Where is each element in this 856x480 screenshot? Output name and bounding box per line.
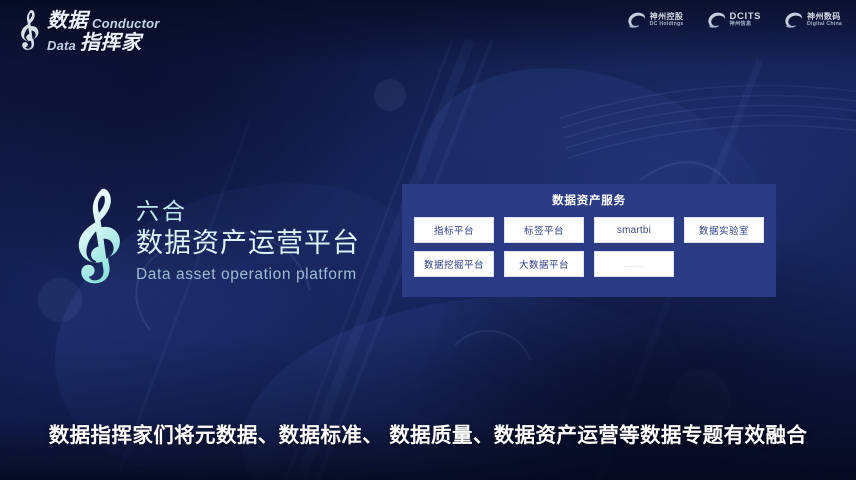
service-card-data-mining-platform[interactable]: 数据挖掘平台 xyxy=(414,251,494,277)
partner-logo-digital-china: 神州数码 Digital China xyxy=(783,10,842,30)
panel-title: 数据资产服务 xyxy=(414,192,764,208)
partner-names: DCITS 神州信息 xyxy=(730,12,762,28)
dc-swirl-icon xyxy=(783,10,803,30)
treble-clef-icon xyxy=(16,8,42,54)
service-card-indicator-platform[interactable]: 指标平台 xyxy=(414,217,494,243)
partner-name-en: 神州信息 xyxy=(730,22,762,28)
service-card-tag-platform[interactable]: 标签平台 xyxy=(504,217,584,243)
brand-row-1: 数据 Conductor xyxy=(47,11,160,31)
partner-names: 神州数码 Digital China xyxy=(807,13,842,28)
slide-caption: 数据指挥家们将元数据、数据标准、 数据质量、数据资产运营等数据专题有效融合 xyxy=(0,418,856,448)
data-asset-service-panel: 数据资产服务 指标平台 标签平台 smartbi 数据实验室 数据挖掘平台 大数… xyxy=(402,184,776,297)
brand-line2-cn: 指挥家 xyxy=(80,33,142,53)
partner-name-en: Digital China xyxy=(807,22,842,28)
partner-logo-dcits: DCITS 神州信息 xyxy=(706,10,762,30)
brand-row-2: Data 指挥家 xyxy=(47,33,160,53)
service-card-placeholder xyxy=(684,251,764,277)
service-card-smartbi[interactable]: smartbi xyxy=(594,217,674,243)
dc-swirl-icon xyxy=(626,10,646,30)
partner-name-en: DC Holdings xyxy=(650,22,684,28)
partner-names: 神州控股 DC Holdings xyxy=(650,13,684,28)
brand-line1-cn: 数据 xyxy=(47,11,88,31)
slide-root: 数据 Conductor Data 指挥家 神州控股 DC Holdings xyxy=(0,0,856,480)
partner-logo-dc-holdings: 神州控股 DC Holdings xyxy=(626,10,684,30)
brand-line1-en: Conductor xyxy=(92,17,160,31)
platform-title-block: 六合 数据资产运营平台 Data asset operation platfor… xyxy=(68,186,360,294)
treble-clef-icon xyxy=(68,186,124,294)
platform-title-line1: 六合 xyxy=(136,196,360,227)
platform-title-text: 六合 数据资产运营平台 Data asset operation platfor… xyxy=(136,196,360,283)
service-card-more[interactable]: ...... xyxy=(594,251,674,277)
service-card-data-lab[interactable]: 数据实验室 xyxy=(684,217,764,243)
platform-title-subtitle: Data asset operation platform xyxy=(136,266,360,284)
brand-logo: 数据 Conductor Data 指挥家 xyxy=(16,8,160,54)
service-card-big-data-platform[interactable]: 大数据平台 xyxy=(504,251,584,277)
brand-line2-en: Data xyxy=(47,39,76,53)
service-card-grid: 指标平台 标签平台 smartbi 数据实验室 数据挖掘平台 大数据平台 ...… xyxy=(414,217,764,277)
dc-swirl-icon xyxy=(706,10,726,30)
partner-logo-group: 神州控股 DC Holdings DCITS 神州信息 神州数码 Digital… xyxy=(626,10,842,30)
brand-text: 数据 Conductor Data 指挥家 xyxy=(47,10,160,53)
platform-title-line2: 数据资产运营平台 xyxy=(136,226,360,261)
